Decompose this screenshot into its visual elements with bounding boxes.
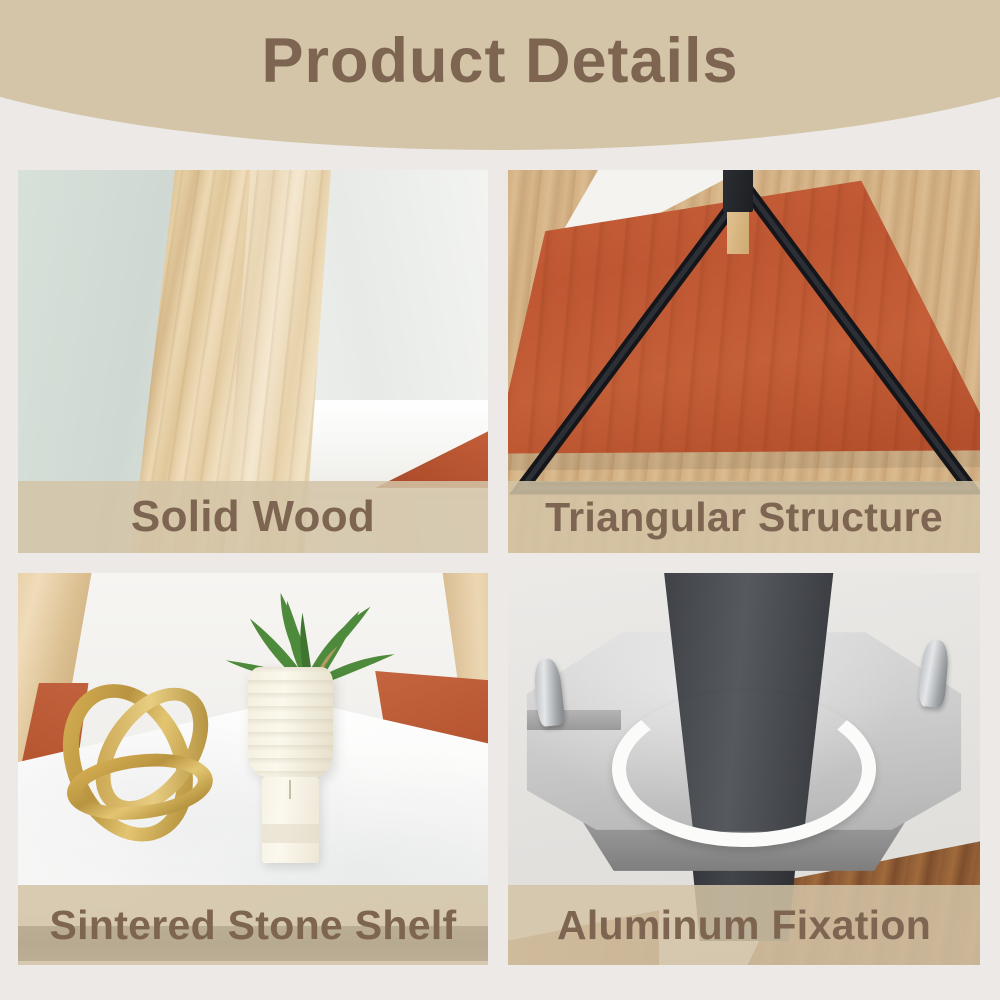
candle-shape [262, 777, 318, 863]
feature-card-aluminum-fixation[interactable]: Aluminum Fixation [508, 573, 980, 965]
feature-card-sintered-stone-shelf[interactable]: Sintered Stone Shelf [18, 573, 488, 965]
caption-band-sintered-stone-shelf: Sintered Stone Shelf [18, 885, 488, 965]
feature-grid: Solid Wood Triangular Structure [18, 170, 980, 965]
product-details-page: Product Details Solid Wood [0, 0, 1000, 1000]
ceramic-plant-pot-shape [248, 667, 333, 777]
candle-label-shape [262, 824, 318, 843]
feature-card-triangular-structure[interactable]: Triangular Structure [508, 170, 980, 553]
caption-label: Triangular Structure [508, 494, 980, 541]
gold-ring-sculpture-icon [60, 667, 220, 855]
header-banner: Product Details [0, 0, 1000, 175]
caption-band-triangular-structure: Triangular Structure [508, 481, 980, 553]
page-title: Product Details [0, 28, 1000, 94]
white-plastic-collar-shape [612, 691, 876, 848]
center-black-bracket-shape [723, 170, 754, 212]
caption-label: Solid Wood [18, 492, 488, 542]
caption-band-aluminum-fixation: Aluminum Fixation [508, 885, 980, 965]
caption-label: Sintered Stone Shelf [18, 902, 488, 949]
feature-card-solid-wood[interactable]: Solid Wood [18, 170, 488, 553]
caption-label: Aluminum Fixation [508, 902, 980, 949]
caption-band-solid-wood: Solid Wood [18, 481, 488, 553]
